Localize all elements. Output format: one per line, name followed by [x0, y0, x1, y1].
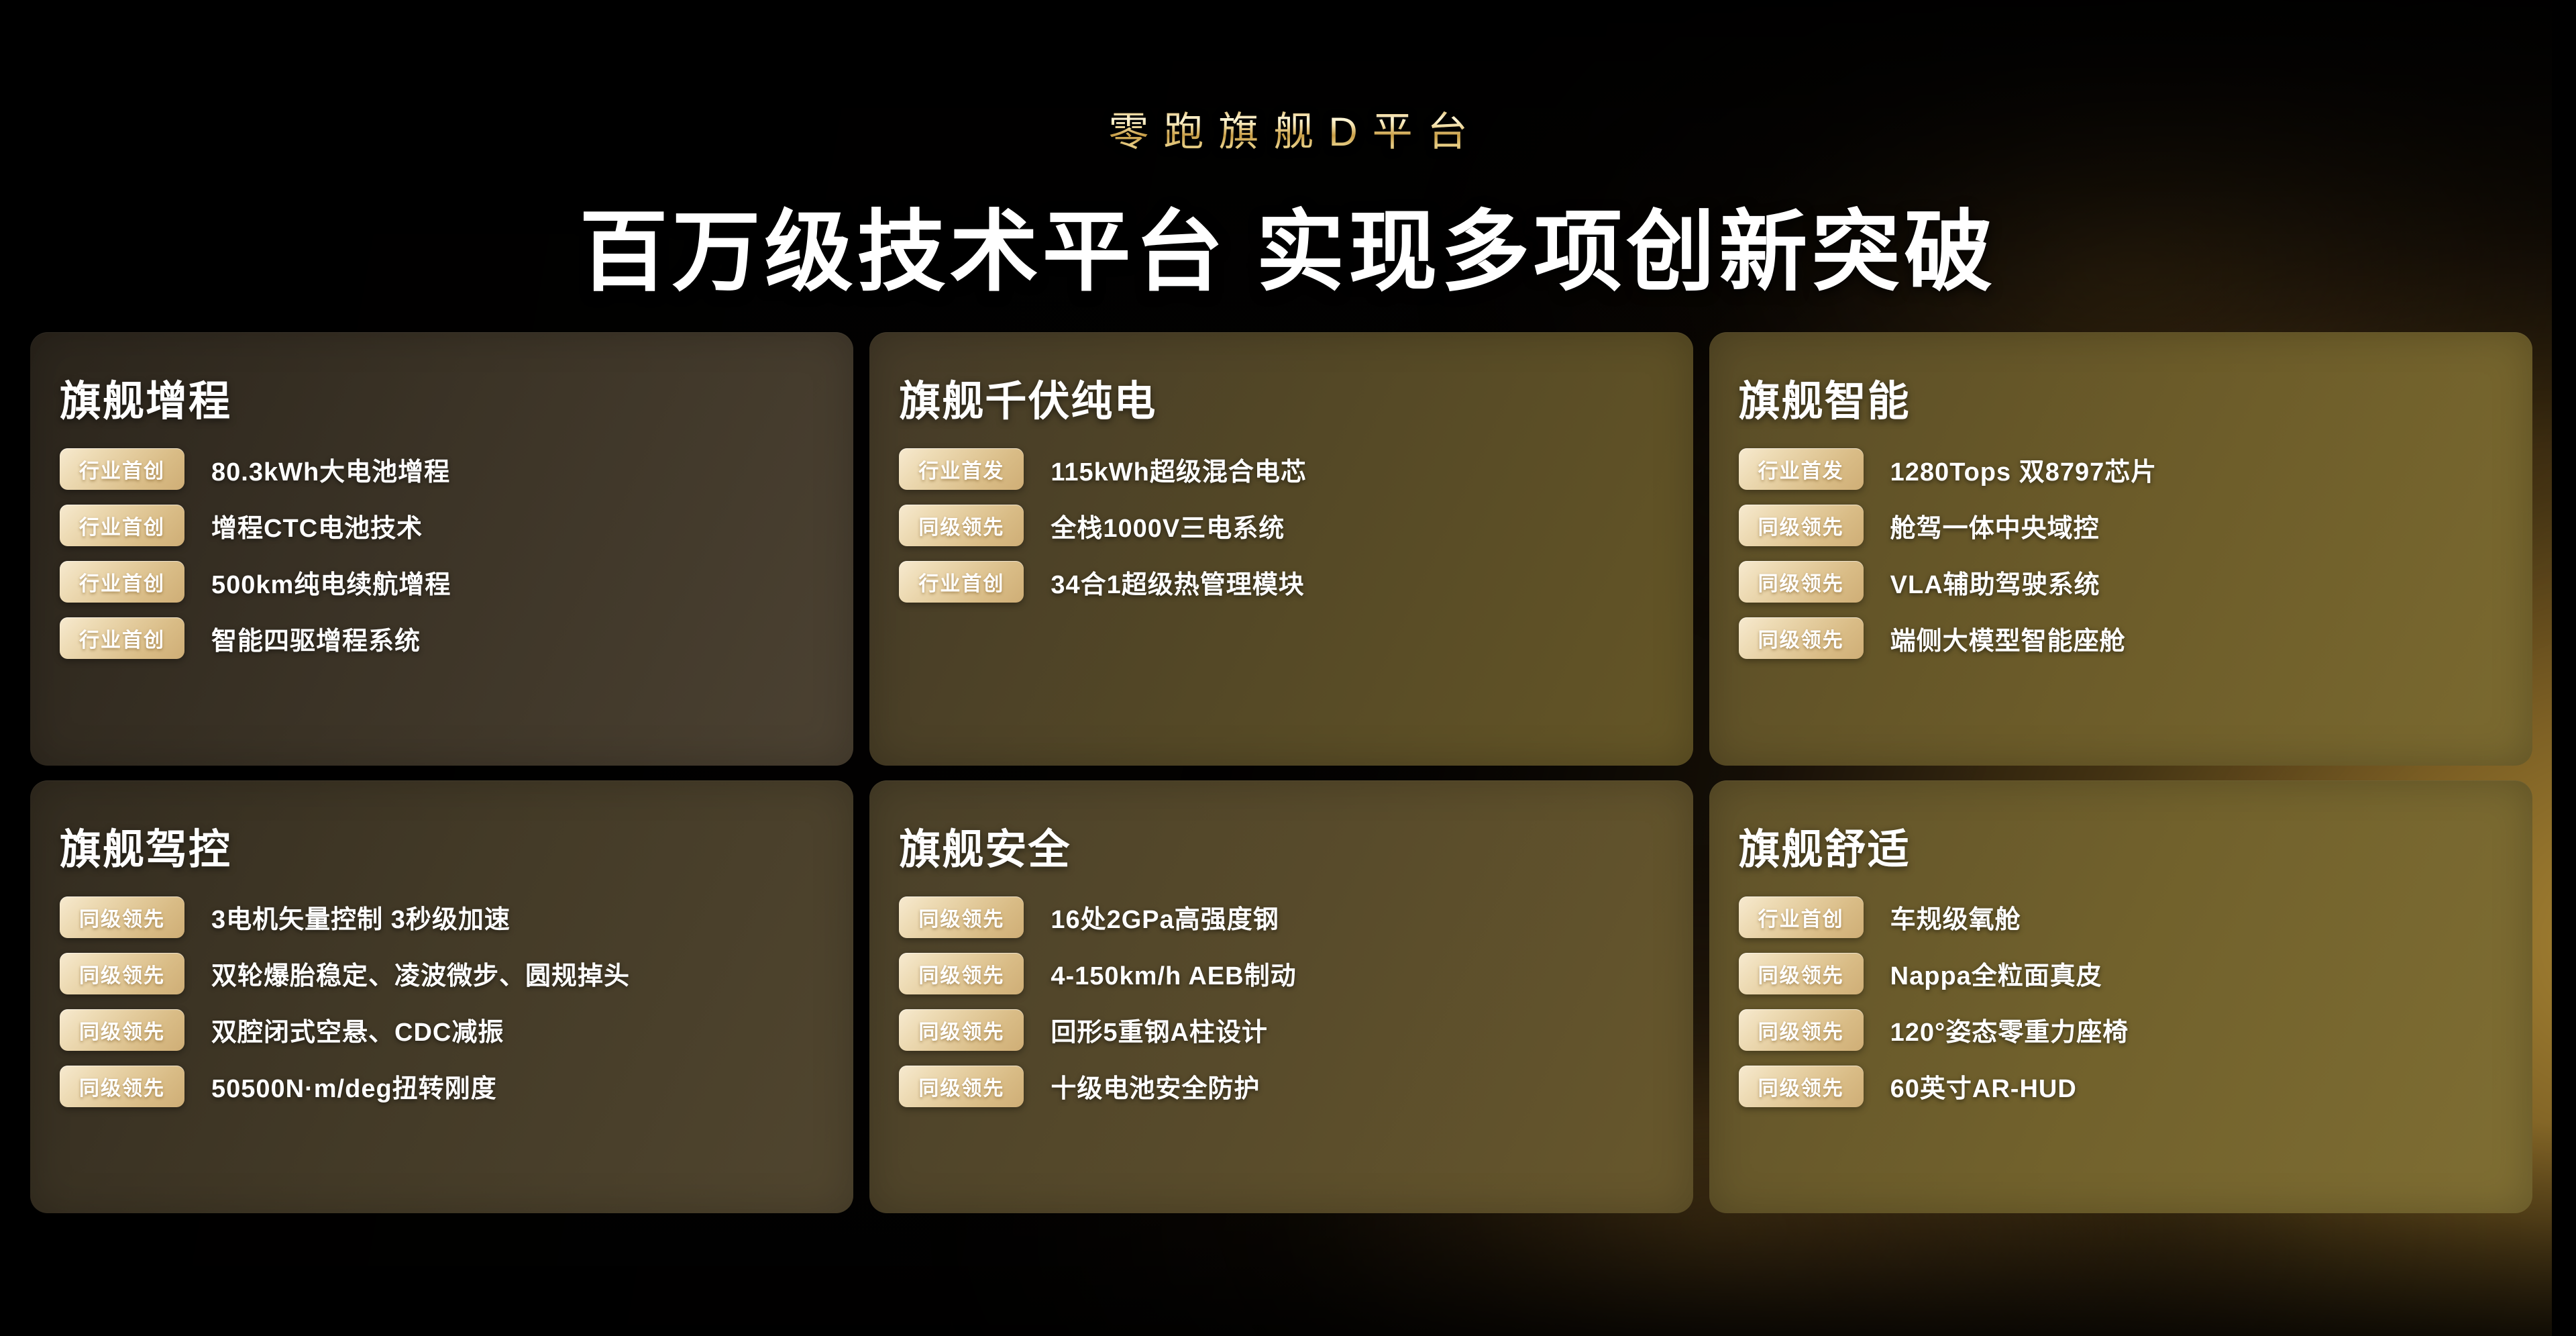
card-title: 旗舰安全: [899, 815, 1663, 876]
feature-row: 行业首创34合1超级热管理模块: [899, 560, 1663, 603]
feature-label: 十级电池安全防护: [1051, 1068, 1260, 1104]
feature-card: 旗舰安全同级领先16处2GPa高强度钢同级领先4-150km/h AEB制动同级…: [869, 780, 1693, 1214]
status-badge: 行业首创: [60, 561, 184, 603]
feature-row: 行业首创80.3kWh大电池增程: [60, 448, 824, 491]
feature-label: 120°姿态零重力座椅: [1890, 1011, 2129, 1048]
status-badge: 同级领先: [1739, 1066, 1864, 1107]
feature-card-grid: 旗舰增程行业首创80.3kWh大电池增程行业首创增程CTC电池技术行业首创500…: [30, 332, 2532, 1213]
feature-label: 500km纯电续航增程: [211, 564, 451, 601]
status-badge: 同级领先: [899, 896, 1024, 938]
feature-label: Nappa全粒面真皮: [1890, 955, 2102, 992]
feature-row: 同级领先双腔闭式空悬、CDC减振: [60, 1009, 824, 1051]
feature-row: 行业首创500km纯电续航增程: [60, 560, 824, 603]
feature-card: 旗舰增程行业首创80.3kWh大电池增程行业首创增程CTC电池技术行业首创500…: [30, 332, 853, 766]
feature-row-list: 行业首发1280Tops 双8797芯片同级领先舱驾一体中央域控同级领先VLA辅…: [1739, 448, 2503, 660]
feature-row: 同级领先十级电池安全防护: [899, 1065, 1663, 1108]
feature-label: 端侧大模型智能座舱: [1890, 620, 2126, 657]
feature-row: 同级领先50500N·m/deg扭转刚度: [60, 1065, 824, 1108]
feature-label: 增程CTC电池技术: [211, 507, 423, 544]
feature-row: 同级领先4-150km/h AEB制动: [899, 952, 1663, 995]
feature-row: 行业首发1280Tops 双8797芯片: [1739, 448, 2503, 491]
feature-row: 行业首创智能四驱增程系统: [60, 617, 824, 660]
status-badge: 同级领先: [1739, 1009, 1864, 1051]
card-title: 旗舰增程: [60, 367, 824, 427]
feature-label: 双腔闭式空悬、CDC减振: [211, 1011, 504, 1048]
feature-card: 旗舰智能行业首发1280Tops 双8797芯片同级领先舱驾一体中央域控同级领先…: [1709, 332, 2532, 766]
card-title: 旗舰千伏纯电: [899, 367, 1663, 427]
presentation-slide: 零跑旗舰D平台 百万级技术平台 实现多项创新突破 旗舰增程行业首创80.3kWh…: [0, 0, 2576, 1336]
status-badge: 行业首发: [1739, 448, 1864, 490]
feature-row-list: 同级领先16处2GPa高强度钢同级领先4-150km/h AEB制动同级领先回形…: [899, 896, 1663, 1108]
feature-label: 3电机矢量控制 3秒级加速: [211, 898, 511, 935]
feature-row-list: 行业首创80.3kWh大电池增程行业首创增程CTC电池技术行业首创500km纯电…: [60, 448, 824, 660]
right-edge-bar: [2552, 0, 2576, 1336]
feature-row: 同级领先3电机矢量控制 3秒级加速: [60, 896, 824, 939]
status-badge: 同级领先: [899, 1066, 1024, 1107]
feature-label: VLA辅助驾驶系统: [1890, 564, 2100, 601]
feature-label: 60英寸AR-HUD: [1890, 1068, 2077, 1104]
feature-label: 1280Tops 双8797芯片: [1890, 451, 2157, 488]
feature-label: 车规级氧舱: [1890, 898, 2021, 935]
feature-row: 同级领先16处2GPa高强度钢: [899, 896, 1663, 939]
feature-label: 115kWh超级混合电芯: [1051, 451, 1307, 488]
feature-row: 同级领先端侧大模型智能座舱: [1739, 617, 2503, 660]
feature-card: 旗舰驾控同级领先3电机矢量控制 3秒级加速同级领先双轮爆胎稳定、凌波微步、圆规掉…: [30, 780, 853, 1214]
status-badge: 同级领先: [1739, 953, 1864, 994]
feature-row: 同级领先120°姿态零重力座椅: [1739, 1009, 2503, 1051]
status-badge: 行业首发: [899, 448, 1024, 490]
card-title: 旗舰驾控: [60, 815, 824, 876]
status-badge: 行业首创: [60, 448, 184, 490]
status-badge: 同级领先: [60, 953, 184, 994]
feature-card: 旗舰舒适行业首创车规级氧舱同级领先Nappa全粒面真皮同级领先120°姿态零重力…: [1709, 780, 2532, 1214]
feature-label: 双轮爆胎稳定、凌波微步、圆规掉头: [211, 955, 630, 992]
feature-row: 同级领先双轮爆胎稳定、凌波微步、圆规掉头: [60, 952, 824, 995]
feature-row: 同级领先60英寸AR-HUD: [1739, 1065, 2503, 1108]
card-title: 旗舰舒适: [1739, 815, 2503, 876]
feature-row-list: 同级领先3电机矢量控制 3秒级加速同级领先双轮爆胎稳定、凌波微步、圆规掉头同级领…: [60, 896, 824, 1108]
feature-label: 回形5重钢A柱设计: [1051, 1011, 1268, 1048]
feature-label: 80.3kWh大电池增程: [211, 451, 450, 488]
status-badge: 行业首创: [899, 561, 1024, 603]
status-badge: 行业首创: [60, 505, 184, 546]
feature-row: 同级领先Nappa全粒面真皮: [1739, 952, 2503, 995]
feature-label: 舱驾一体中央域控: [1890, 507, 2100, 544]
card-title: 旗舰智能: [1739, 367, 2503, 427]
status-badge: 同级领先: [1739, 561, 1864, 603]
feature-row: 同级领先全栈1000V三电系统: [899, 504, 1663, 547]
feature-row: 同级领先VLA辅助驾驶系统: [1739, 560, 2503, 603]
feature-label: 全栈1000V三电系统: [1051, 507, 1285, 544]
feature-label: 34合1超级热管理模块: [1051, 564, 1304, 601]
feature-row: 同级领先回形5重钢A柱设计: [899, 1009, 1663, 1051]
feature-row-list: 行业首发115kWh超级混合电芯同级领先全栈1000V三电系统行业首创34合1超…: [899, 448, 1663, 603]
status-badge: 同级领先: [1739, 617, 1864, 659]
feature-row: 行业首创车规级氧舱: [1739, 896, 2503, 939]
status-badge: 同级领先: [899, 953, 1024, 994]
status-badge: 同级领先: [899, 505, 1024, 546]
status-badge: 同级领先: [60, 1066, 184, 1107]
feature-label: 16处2GPa高强度钢: [1051, 898, 1279, 935]
feature-label: 智能四驱增程系统: [211, 620, 421, 657]
feature-row: 行业首创增程CTC电池技术: [60, 504, 824, 547]
status-badge: 同级领先: [1739, 505, 1864, 546]
status-badge: 行业首创: [60, 617, 184, 659]
status-badge: 同级领先: [60, 896, 184, 938]
status-badge: 同级领先: [60, 1009, 184, 1051]
feature-row-list: 行业首创车规级氧舱同级领先Nappa全粒面真皮同级领先120°姿态零重力座椅同级…: [1739, 896, 2503, 1108]
feature-label: 4-150km/h AEB制动: [1051, 955, 1296, 992]
status-badge: 行业首创: [1739, 896, 1864, 938]
feature-row: 行业首发115kWh超级混合电芯: [899, 448, 1663, 491]
status-badge: 同级领先: [899, 1009, 1024, 1051]
feature-label: 50500N·m/deg扭转刚度: [211, 1068, 497, 1104]
feature-row: 同级领先舱驾一体中央域控: [1739, 504, 2503, 547]
feature-card: 旗舰千伏纯电行业首发115kWh超级混合电芯同级领先全栈1000V三电系统行业首…: [869, 332, 1693, 766]
